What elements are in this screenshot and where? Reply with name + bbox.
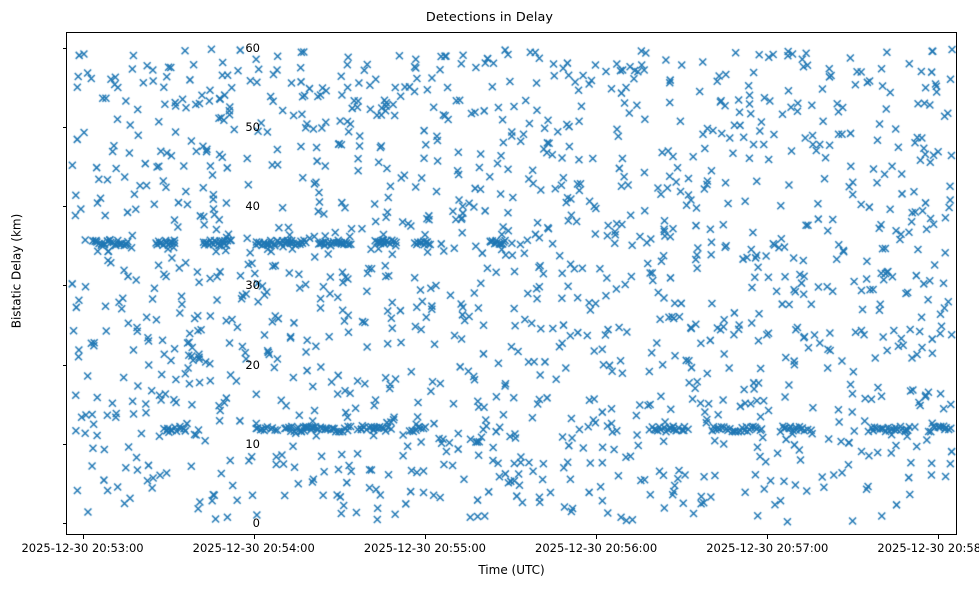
- y-axis-label: Bistatic Delay (km): [10, 20, 24, 523]
- y-tick-mark: [63, 444, 67, 445]
- x-tick-mark: [767, 535, 768, 539]
- x-tick-label: 2025-12-30 20:53:00: [21, 541, 143, 555]
- x-tick-label: 2025-12-30 20:56:00: [535, 541, 657, 555]
- y-tick-label: 50: [80, 120, 260, 134]
- y-tick-label: 10: [80, 437, 260, 451]
- y-tick-label: 20: [80, 358, 260, 372]
- y-tick-label: 30: [80, 278, 260, 292]
- y-tick-mark: [63, 206, 67, 207]
- matplotlib-figure: Detections in Delay 2025-12-30 20:53:002…: [0, 0, 979, 590]
- x-tick-mark: [425, 535, 426, 539]
- page-title: Detections in Delay: [0, 10, 979, 25]
- x-tick-mark: [254, 535, 255, 539]
- y-tick-mark: [63, 127, 67, 128]
- y-tick-mark: [63, 285, 67, 286]
- x-tick-mark: [596, 535, 597, 539]
- x-tick-label: 2025-12-30 20:54:00: [193, 541, 315, 555]
- y-tick-label: 60: [80, 41, 260, 55]
- x-tick-label: 2025-12-30 20:55:00: [364, 541, 486, 555]
- y-tick-label: 0: [80, 516, 260, 530]
- y-tick-label: 40: [80, 199, 260, 213]
- y-tick-mark: [63, 48, 67, 49]
- x-tick-label: 2025-12-30 20:57:00: [706, 541, 828, 555]
- x-axis-label: Time (UTC): [66, 563, 957, 577]
- y-tick-mark: [63, 523, 67, 524]
- x-tick-label: 2025-12-30 20:58:00: [877, 541, 979, 555]
- x-tick-mark: [83, 535, 84, 539]
- y-tick-mark: [63, 365, 67, 366]
- x-tick-mark: [938, 535, 939, 539]
